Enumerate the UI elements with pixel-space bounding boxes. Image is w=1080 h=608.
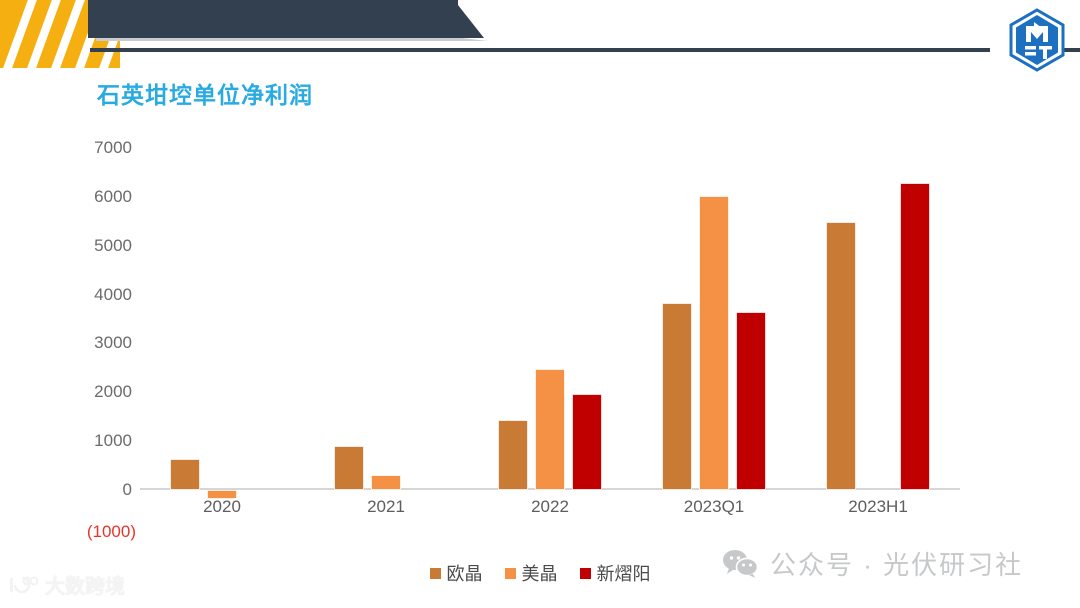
legend-swatch	[505, 568, 516, 579]
wechat-icon	[722, 549, 758, 579]
bar-slot	[699, 148, 729, 490]
legend-label: 美晶	[522, 560, 558, 586]
legend-item-欧晶[interactable]: 欧晶	[430, 560, 483, 586]
pet-cube-logo-icon	[1008, 8, 1066, 72]
legend-swatch	[580, 568, 591, 579]
bar-欧晶[interactable]	[498, 420, 528, 490]
y-axis-tick-label: 3000	[94, 333, 132, 353]
bar-美晶[interactable]	[699, 196, 729, 490]
bar-slot	[662, 148, 692, 490]
bar-欧晶[interactable]	[662, 303, 692, 490]
bar-欧晶[interactable]	[826, 222, 856, 490]
bar-美晶[interactable]	[535, 369, 565, 490]
x-axis-category-label: 2022	[468, 497, 632, 525]
x-axis-category-label: 2023Q1	[632, 497, 796, 525]
header-divider-rule	[90, 48, 990, 52]
watermark-right: 公众号 · 光伏研习社	[722, 545, 1023, 582]
legend-item-美晶[interactable]: 美晶	[505, 560, 558, 586]
watermark-left-text: 大数跨境	[45, 570, 125, 599]
y-axis-negative-tick-label: (1000)	[82, 522, 136, 542]
x-axis-category-label: 2021	[304, 497, 468, 525]
legend-item-新熠阳[interactable]: 新熠阳	[580, 560, 651, 586]
bar-slot	[900, 148, 930, 490]
y-axis-tick-label: 7000	[94, 138, 132, 158]
bar-slot	[408, 148, 438, 490]
bar-欧晶[interactable]	[170, 459, 200, 490]
legend-label: 新熠阳	[597, 560, 651, 586]
bar-slot	[334, 148, 364, 490]
bar-slot	[170, 148, 200, 490]
watermark-right-text: 公众号 · 光伏研习社	[770, 545, 1023, 582]
y-axis-tick-labels: 01000200030004000500060007000	[82, 148, 132, 490]
legend-label: 欧晶	[447, 560, 483, 586]
legend-swatch	[430, 568, 441, 579]
bar-欧晶[interactable]	[334, 446, 364, 490]
bar-group	[796, 148, 960, 490]
bar-groups	[140, 148, 960, 490]
page-title: 石英坩埪单位净利润	[97, 76, 313, 110]
bar-slot	[498, 148, 528, 490]
bar-slot	[572, 148, 602, 490]
slide-canvas: 石英坩埪单位净利润 01000200030004000500060007000 …	[0, 0, 1080, 608]
watermark-left: 大数跨境	[8, 570, 125, 599]
bar-group	[304, 148, 468, 490]
bar-group	[468, 148, 632, 490]
bar-slot	[863, 148, 893, 490]
y-axis-tick-label: 1000	[94, 431, 132, 451]
header-banner	[88, 0, 458, 38]
bar-新熠阳[interactable]	[736, 312, 766, 490]
bar-group	[140, 148, 304, 490]
y-axis-tick-label: 0	[123, 480, 132, 500]
y-axis-tick-label: 2000	[94, 382, 132, 402]
y-axis-tick-label: 5000	[94, 236, 132, 256]
x-axis-category-labels: 2020202120222023Q12023H1	[140, 497, 960, 525]
bar-新熠阳[interactable]	[572, 394, 602, 490]
x-axis-category-label: 2020	[140, 497, 304, 525]
bar-美晶[interactable]	[371, 475, 401, 490]
y-axis-tick-label: 4000	[94, 285, 132, 305]
y-axis-tick-label: 6000	[94, 187, 132, 207]
bar-slot	[535, 148, 565, 490]
chart-plot-area: 01000200030004000500060007000	[140, 148, 960, 490]
bar-slot	[371, 148, 401, 490]
bar-slot	[826, 148, 856, 490]
ds-logo-icon	[8, 575, 38, 595]
x-axis-category-label: 2023H1	[796, 497, 960, 525]
bar-slot	[244, 148, 274, 490]
bar-新熠阳[interactable]	[900, 183, 930, 490]
bar-group	[632, 148, 796, 490]
bar-slot	[207, 148, 237, 490]
bar-slot	[736, 148, 766, 490]
header-banner-shadow	[96, 38, 464, 41]
